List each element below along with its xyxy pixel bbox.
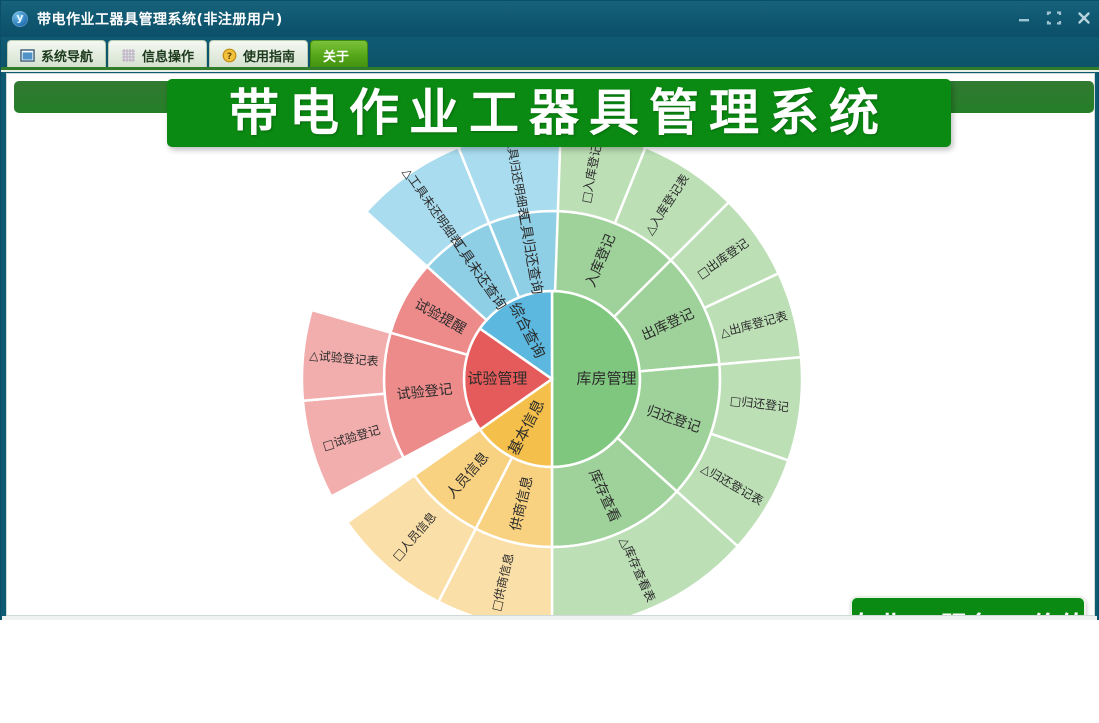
grid-icon bbox=[121, 48, 136, 63]
window-title: 带电作业工器具管理系统(非注册用户) bbox=[37, 9, 283, 29]
main-window: 带电作业工器具管理系统(非注册用户) bbox=[0, 0, 1099, 620]
tab-list: 系统导航 信息操作 ? 使用指南 bbox=[7, 38, 370, 69]
slogan-badge: 专业 ●服务 ●价值 bbox=[850, 596, 1086, 616]
app-logo-icon bbox=[12, 11, 28, 27]
tab-label: 关于 bbox=[323, 46, 349, 65]
sunburst-segment-label: 试验管理 bbox=[467, 370, 527, 388]
minimize-button[interactable] bbox=[1016, 10, 1032, 26]
tab-about[interactable]: 关于 bbox=[310, 40, 368, 69]
status-bar bbox=[2, 616, 1097, 620]
window-square-icon bbox=[20, 48, 35, 63]
content-area: 库房管理入库登记□入库登记△入库登记表出库登记□出库登记△出库登记表归还登记□归… bbox=[6, 73, 1095, 616]
sunburst-chart: 库房管理入库登记□入库登记△入库登记表出库登记□出库登记△出库登记表归还登记□归… bbox=[7, 74, 1095, 616]
window-controls bbox=[1016, 10, 1092, 26]
tab-system-navigation[interactable]: 系统导航 bbox=[7, 40, 106, 69]
title-bar: 带电作业工器具管理系统(非注册用户) bbox=[1, 1, 1099, 37]
tab-underline-light bbox=[1, 70, 1099, 72]
tab-strip: 系统导航 信息操作 ? 使用指南 bbox=[1, 37, 1099, 69]
restore-button[interactable] bbox=[1046, 10, 1062, 26]
banner-title: 带电作业工器具管理系统 bbox=[229, 88, 889, 138]
question-circle-icon: ? bbox=[222, 48, 237, 63]
slogan-text: 专业 ●服务 ●价值 bbox=[849, 605, 1087, 617]
tab-label: 使用指南 bbox=[243, 46, 295, 65]
sunburst-segment-label: 库房管理 bbox=[577, 370, 637, 388]
tab-info-operation[interactable]: 信息操作 bbox=[108, 40, 207, 69]
tab-label: 信息操作 bbox=[142, 46, 194, 65]
tab-user-guide[interactable]: ? 使用指南 bbox=[209, 40, 308, 69]
close-button[interactable] bbox=[1076, 10, 1092, 26]
tab-label: 系统导航 bbox=[41, 46, 93, 65]
app-banner: 带电作业工器具管理系统 bbox=[167, 79, 951, 147]
svg-text:?: ? bbox=[227, 52, 232, 62]
